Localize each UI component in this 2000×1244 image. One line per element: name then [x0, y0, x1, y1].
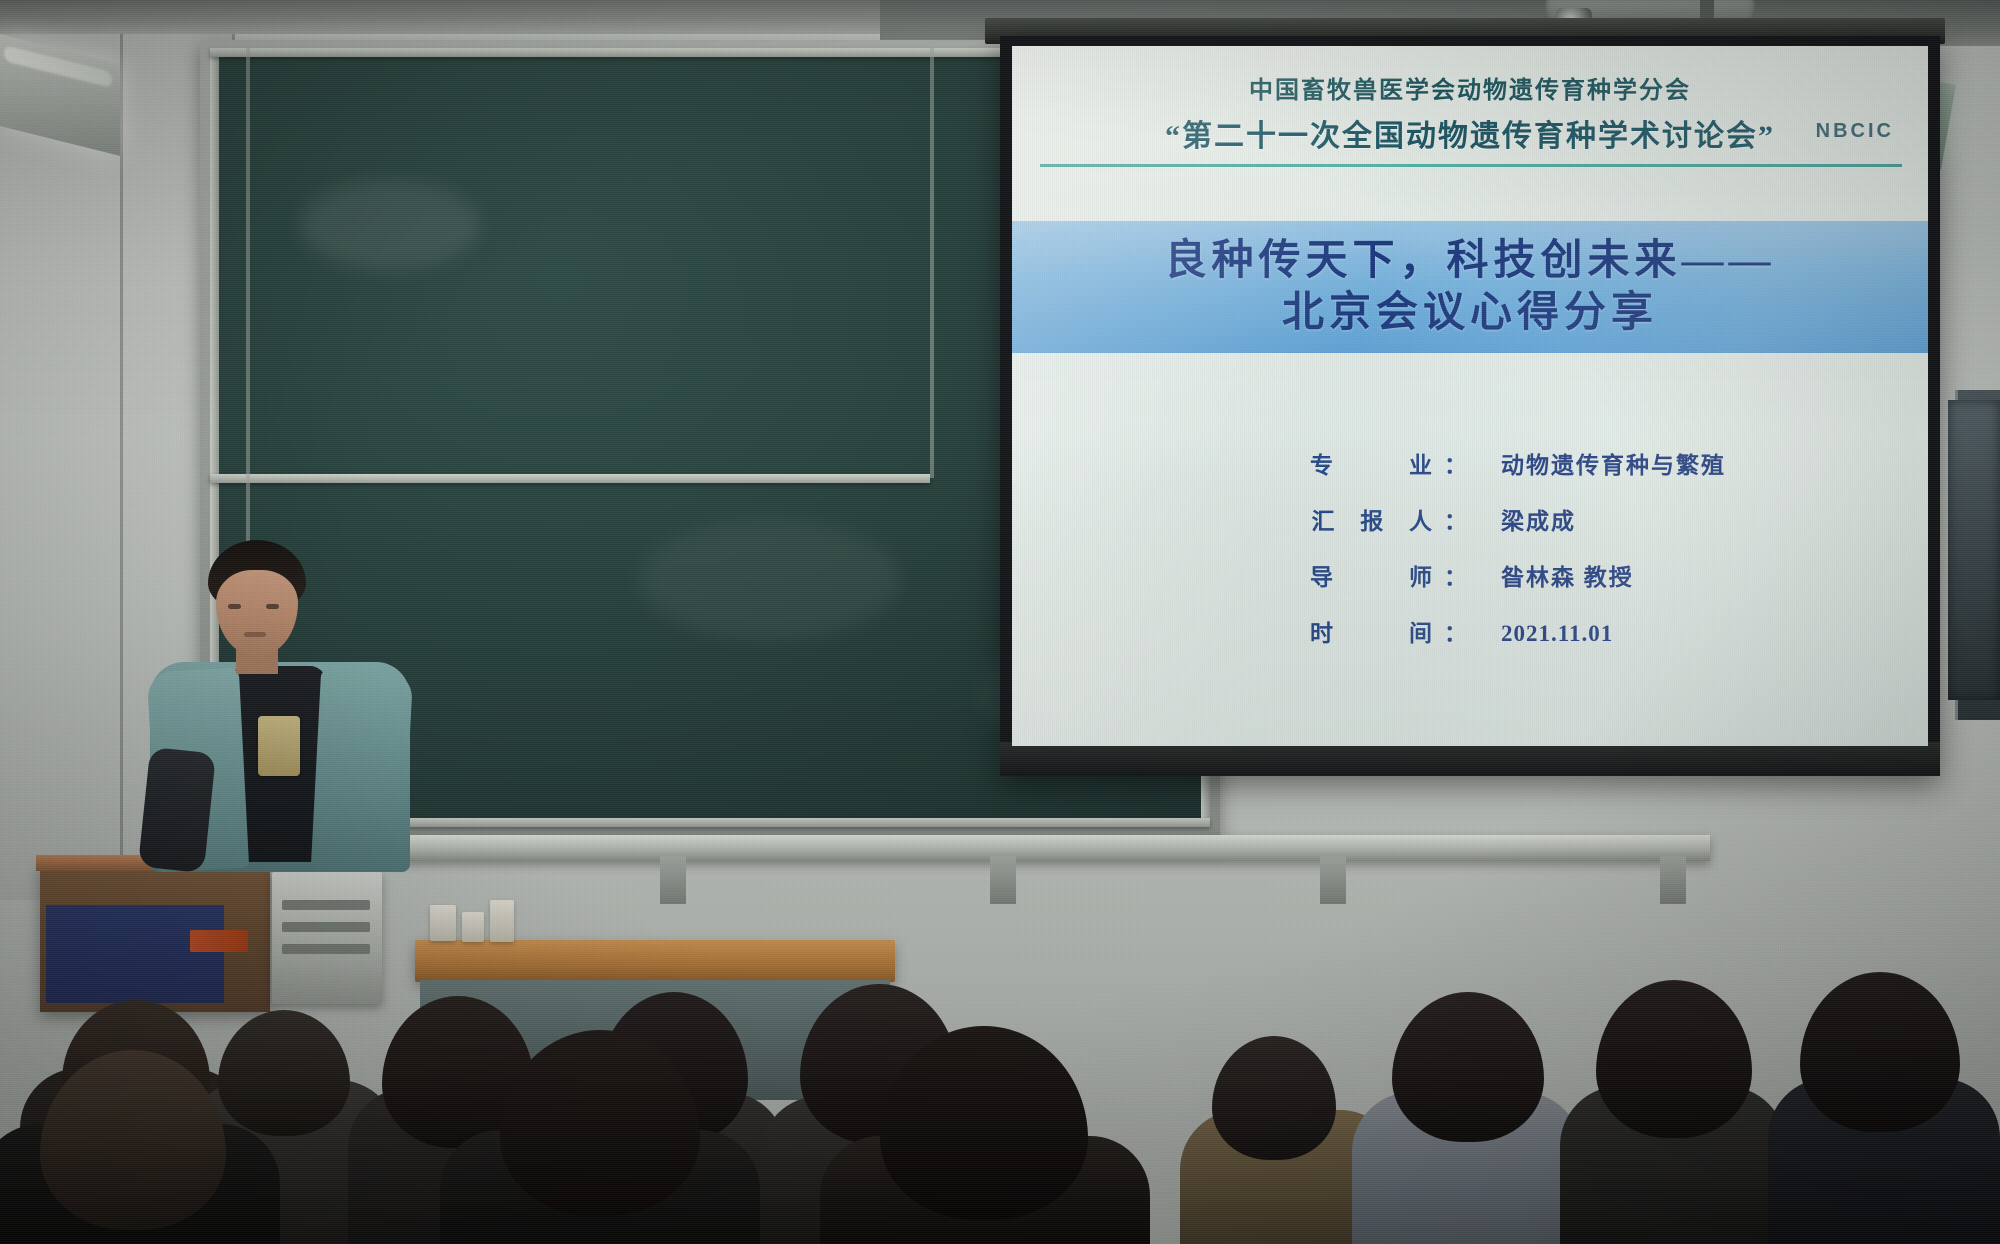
slide-conference-line: “第二十一次全国动物遗传育种学术讨论会” — [1012, 111, 1928, 155]
presenter-mouth — [244, 632, 266, 637]
meta-label: 时 间 — [1012, 614, 1442, 648]
audience-head — [1212, 1036, 1336, 1160]
slide-title-line-2: 北京会议心得分享 — [1282, 287, 1658, 340]
meta-value: 2021.11.01 — [1469, 621, 1613, 647]
nbcic-logo: NBCIC — [1816, 120, 1894, 143]
wall-poster — [1948, 400, 2000, 700]
audience-head — [218, 1010, 350, 1136]
slide-title-band: 良种传天下，科技创未来—— 北京会议心得分享 — [1012, 221, 1928, 353]
slide-meta-row-date: 时 间 ： 2021.11.01 — [1012, 614, 1928, 648]
slide-meta-row-advisor: 导 师 ： 昝林森 教授 — [1012, 558, 1928, 592]
chalk-tray — [400, 835, 1710, 861]
meta-value: 动物遗传育种与繁殖 — [1469, 446, 1726, 480]
meta-label: 导 师 — [1012, 558, 1442, 592]
wall-seam — [120, 0, 123, 900]
lecture-hall-photo: 中国畜牧兽医学会动物遗传育种学分会 “第二十一次全国动物遗传育种学术讨论会” N… — [0, 0, 2000, 1244]
presenter-eye — [266, 604, 279, 609]
presenter-jacket-right — [311, 668, 413, 873]
projection-screen-bottom-bar — [1000, 742, 1940, 776]
presenter-sleeve — [138, 747, 216, 873]
meta-colon: ： — [1442, 558, 1469, 592]
meta-value: 昝林森 教授 — [1469, 558, 1634, 592]
meta-colon: ： — [1442, 502, 1469, 536]
slide-header: 中国畜牧兽医学会动物遗传育种学分会 “第二十一次全国动物遗传育种学术讨论会” — [1012, 70, 1928, 155]
meta-label: 专 业 — [1012, 446, 1442, 480]
chalk-smudge — [640, 520, 900, 640]
presenter-eye — [228, 604, 241, 609]
meta-colon: ： — [1442, 614, 1469, 648]
meta-value: 梁成成 — [1469, 502, 1576, 536]
slide-header-rule — [1040, 164, 1902, 167]
chalk-smudge — [300, 180, 480, 270]
blackboard-rail-mid — [210, 474, 930, 483]
slide-title-line-1: 良种传天下，科技创未来—— — [1164, 235, 1775, 288]
presenter-badge — [258, 716, 300, 776]
slide-organization-line: 中国畜牧兽医学会动物遗传育种学分会 — [1012, 70, 1928, 105]
presentation-slide: 中国畜牧兽医学会动物遗传育种学分会 “第二十一次全国动物遗传育种学术讨论会” N… — [1012, 46, 1928, 746]
slide-meta-row-major: 专 业 ： 动物遗传育种与繁殖 — [1012, 446, 1928, 480]
blackboard-panel-divider — [930, 48, 934, 478]
meta-label: 汇 报 人 — [1012, 502, 1442, 536]
audience-head — [1800, 972, 1960, 1132]
slide-meta-block: 专 业 ： 动物遗传育种与繁殖 汇 报 人 ： 梁成成 导 师 ： 昝林森 教授… — [1012, 446, 1928, 670]
presenter-face — [216, 570, 298, 656]
slide-meta-row-presenter: 汇 报 人 ： 梁成成 — [1012, 502, 1928, 536]
audience-head — [1596, 980, 1752, 1138]
audience — [0, 880, 2000, 1244]
meta-colon: ： — [1442, 446, 1469, 480]
audience-head — [1392, 992, 1544, 1142]
presenter — [150, 540, 410, 870]
